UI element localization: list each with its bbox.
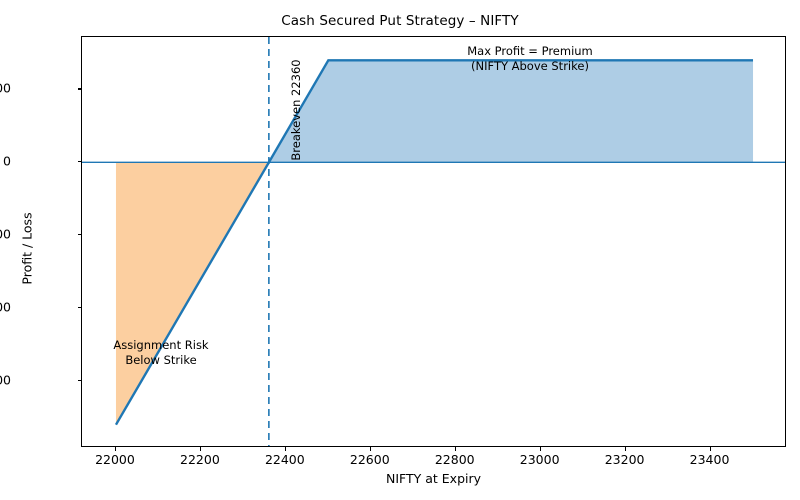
annotation-assignment-risk: Assignment Risk Below Strike bbox=[71, 338, 251, 368]
x-axis-label: NIFTY at Expiry bbox=[81, 471, 786, 486]
y-axis-label: Profit / Loss bbox=[20, 159, 35, 339]
y-tick-label: 100 bbox=[0, 81, 11, 96]
y-tick-label: 0 bbox=[0, 154, 11, 169]
annotation-max-profit: Max Profit = Premium (NIFTY Above Strike… bbox=[388, 44, 672, 74]
plot-svg bbox=[82, 37, 786, 447]
y-tick-mark bbox=[78, 161, 82, 162]
x-tick-mark bbox=[115, 447, 116, 451]
x-tick-mark bbox=[200, 447, 201, 451]
y-tick-mark bbox=[78, 234, 82, 235]
x-tick-mark bbox=[710, 447, 711, 451]
plot-area bbox=[81, 36, 786, 447]
chart-title: Cash Secured Put Strategy – NIFTY bbox=[0, 13, 800, 29]
y-tick-mark bbox=[78, 380, 82, 381]
y-tick-label: −200 bbox=[0, 300, 11, 315]
y-tick-mark bbox=[78, 307, 82, 308]
chart-figure: Cash Secured Put Strategy – NIFTY Profit… bbox=[0, 0, 800, 500]
x-tick-mark bbox=[370, 447, 371, 451]
x-tick-mark bbox=[625, 447, 626, 451]
x-tick-mark bbox=[285, 447, 286, 451]
y-tick-label: −100 bbox=[0, 227, 11, 242]
profit-region bbox=[269, 60, 753, 162]
x-tick-mark bbox=[540, 447, 541, 451]
x-tick-label: 23400 bbox=[650, 452, 770, 467]
y-tick-label: −300 bbox=[0, 372, 11, 387]
y-tick-mark bbox=[78, 88, 82, 89]
fill-layer bbox=[116, 60, 753, 424]
annotation-breakeven: Breakeven 22360 bbox=[289, 20, 303, 200]
x-tick-mark bbox=[455, 447, 456, 451]
